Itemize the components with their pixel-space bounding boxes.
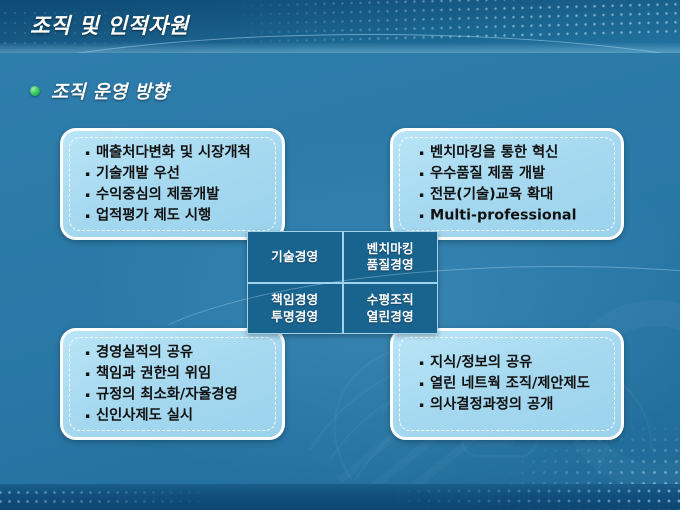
- center-matrix: 기술경영 벤치마킹 품질경영 책임경영 투명경영 수평조직 열린경영: [247, 231, 438, 334]
- list-item: 신인사제도 실시: [83, 405, 270, 426]
- list-item: Multi-professional: [417, 205, 609, 226]
- subtitle-row: 조직 운영 방향: [30, 78, 169, 104]
- matrix-cell-line: 수평조직: [367, 292, 414, 308]
- footer-dots-left: [0, 488, 246, 508]
- header-bottom-glow: [0, 42, 680, 53]
- list-item: 업적평가 제도 시행: [83, 205, 270, 226]
- content-box-bottom-left: 경영실적의 공유 책임과 권한의 위임 규정의 최소화/자율경영 신인사제도 실…: [60, 328, 285, 440]
- bullet-list-top-right: 벤치마킹을 통한 혁신 우수품질 제품 개발 전문(기술)교육 확대 Multi…: [417, 142, 609, 225]
- page-title: 조직 및 인적자원: [30, 9, 189, 40]
- list-item: 매출처다변화 및 시장개척: [83, 142, 270, 163]
- matrix-cell-2: 벤치마킹 품질경영: [343, 231, 439, 283]
- matrix-cell-line: 품질경영: [367, 257, 414, 273]
- matrix-cell-line: 투명경영: [271, 309, 318, 325]
- content-box-top-left: 매출처다변화 및 시장개척 기술개발 우선 수익중심의 제품개발 업적평가 제도…: [60, 128, 285, 240]
- list-item: 벤치마킹을 통한 혁신: [417, 142, 609, 163]
- list-item: 규정의 최소화/자율경영: [83, 384, 270, 405]
- bullet-list-bottom-right: 지식/정보의 공유 열린 네트웍 조직/제안제도 의사결정과정의 공개: [417, 353, 609, 416]
- list-item: 전문(기술)교육 확대: [417, 184, 609, 205]
- matrix-cell-4: 수평조직 열린경영: [343, 283, 439, 335]
- presentation-slide: 조직 및 인적자원 조직 운영 방향 매출처다변화 및 시장개척 기술개발 우선…: [0, 0, 680, 510]
- footer-dots-right: [354, 486, 680, 510]
- content-box-top-right: 벤치마킹을 통한 혁신 우수품질 제품 개발 전문(기술)교육 확대 Multi…: [390, 128, 624, 240]
- slide-footer-band: [0, 484, 680, 510]
- matrix-cell-line: 책임경영: [271, 292, 318, 308]
- list-item: 지식/정보의 공유: [417, 353, 609, 374]
- green-dot-icon: [30, 86, 40, 96]
- list-item: 책임과 권한의 위임: [83, 363, 270, 384]
- matrix-cell-3: 책임경영 투명경영: [247, 283, 343, 335]
- bullet-list-bottom-left: 경영실적의 공유 책임과 권한의 위임 규정의 최소화/자율경영 신인사제도 실…: [83, 342, 270, 425]
- list-item: 경영실적의 공유: [83, 342, 270, 363]
- matrix-cell-line: 기술경영: [271, 249, 318, 265]
- list-item: 수익중심의 제품개발: [83, 184, 270, 205]
- list-item: 우수품질 제품 개발: [417, 163, 609, 184]
- matrix-cell-line: 벤치마킹: [367, 241, 414, 257]
- matrix-cell-1: 기술경영: [247, 231, 343, 283]
- bullet-list-top-left: 매출처다변화 및 시장개척 기술개발 우선 수익중심의 제품개발 업적평가 제도…: [83, 142, 270, 225]
- list-item: 기술개발 우선: [83, 163, 270, 184]
- list-item: 열린 네트웍 조직/제안제도: [417, 374, 609, 395]
- section-subtitle: 조직 운영 방향: [51, 78, 169, 104]
- matrix-cell-line: 열린경영: [367, 309, 414, 325]
- content-box-bottom-right: 지식/정보의 공유 열린 네트웍 조직/제안제도 의사결정과정의 공개: [390, 328, 624, 440]
- list-item: 의사결정과정의 공개: [417, 394, 609, 415]
